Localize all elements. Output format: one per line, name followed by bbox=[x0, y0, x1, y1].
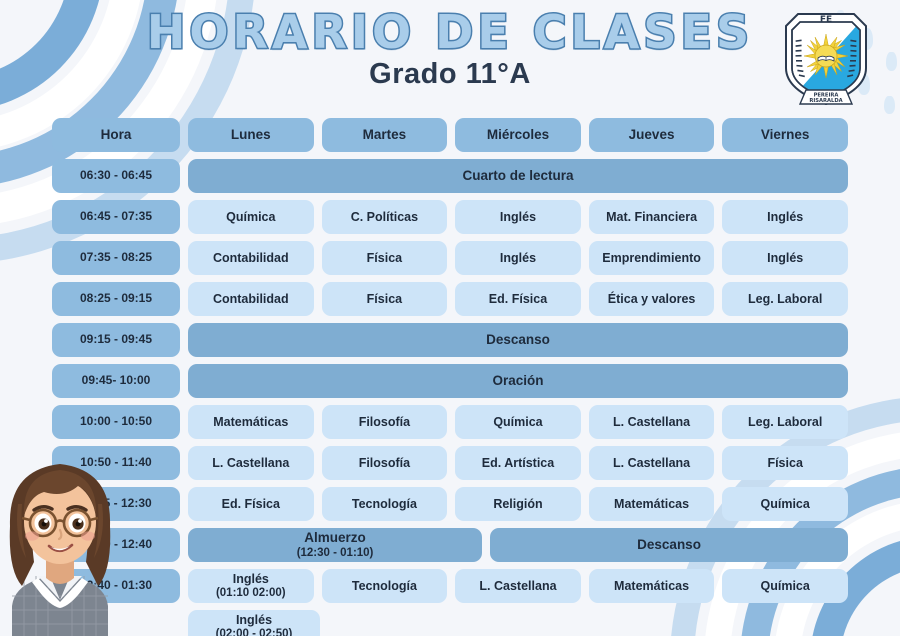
subject-cell: Química bbox=[455, 405, 581, 439]
empty-cell bbox=[724, 610, 848, 636]
time-slot: 10:00 - 10:50 bbox=[52, 405, 180, 439]
schedule-table: Hora Lunes Martes Miércoles Jueves Viern… bbox=[0, 118, 900, 636]
subject-label: Inglés bbox=[233, 572, 269, 586]
subject-cell: Ed. Artística bbox=[455, 446, 581, 480]
empty-cell bbox=[592, 610, 716, 636]
lunch-cell: Almuerzo (12:30 - 01:10) bbox=[188, 528, 482, 562]
subject-label: Inglés bbox=[236, 613, 272, 627]
subject-cell: Física bbox=[322, 282, 448, 316]
table-row: 06:30 - 06:45 Cuarto de lectura bbox=[52, 159, 848, 193]
table-row: 12:40 - 01:30 Inglés (01:10 02:00) Tecno… bbox=[52, 569, 848, 603]
lunch-time-range: (12:30 - 01:10) bbox=[297, 547, 374, 560]
subject-cell: Tecnología bbox=[322, 487, 448, 521]
column-header-hora: Hora bbox=[52, 118, 180, 152]
time-slot: 12:30 - 12:40 bbox=[52, 528, 180, 562]
time-slot: 10:50 - 11:40 bbox=[52, 446, 180, 480]
table-row: 09:15 - 09:45 Descanso bbox=[52, 323, 848, 357]
table-row: 10:50 - 11:40 L. Castellana Filosofía Ed… bbox=[52, 446, 848, 480]
subject-cell: Inglés (01:10 02:00) bbox=[188, 569, 314, 603]
subject-cell: Tecnología bbox=[322, 569, 448, 603]
crest-motto: FE bbox=[820, 15, 832, 25]
column-header-viernes: Viernes bbox=[722, 118, 848, 152]
special-activity-cuarto-de-lectura: Cuarto de lectura bbox=[188, 159, 848, 193]
subject-cell: Química bbox=[722, 569, 848, 603]
table-row: Inglés (02:00 - 02:50) bbox=[52, 610, 848, 636]
subject-cell: Contabilidad bbox=[188, 282, 314, 316]
subject-cell: Emprendimiento bbox=[589, 241, 715, 275]
empty-cell bbox=[460, 610, 584, 636]
table-row: 08:25 - 09:15 Contabilidad Física Ed. Fí… bbox=[52, 282, 848, 316]
time-slot: 09:15 - 09:45 bbox=[52, 323, 180, 357]
subject-cell: Inglés bbox=[722, 200, 848, 234]
table-row: 06:45 - 07:35 Química C. Políticas Inglé… bbox=[52, 200, 848, 234]
subject-cell: L. Castellana bbox=[589, 446, 715, 480]
subject-cell: L. Castellana bbox=[589, 405, 715, 439]
subject-time-range: (01:10 02:00) bbox=[216, 587, 286, 600]
subject-cell: Inglés bbox=[455, 200, 581, 234]
subject-cell: Leg. Laboral bbox=[722, 405, 848, 439]
time-slot: 08:25 - 09:15 bbox=[52, 282, 180, 316]
table-row: 09:45- 10:00 Oración bbox=[52, 364, 848, 398]
subject-cell: L. Castellana bbox=[188, 446, 314, 480]
special-activity-descanso: Descanso bbox=[188, 323, 848, 357]
special-activity-descanso: Descanso bbox=[490, 528, 848, 562]
subject-cell: Filosofía bbox=[322, 405, 448, 439]
time-slot-empty bbox=[52, 610, 180, 636]
column-header-lunes: Lunes bbox=[188, 118, 314, 152]
column-header-martes: Martes bbox=[322, 118, 448, 152]
time-slot: 07:35 - 08:25 bbox=[52, 241, 180, 275]
special-activity-oracion: Oración bbox=[188, 364, 848, 398]
table-row: 11:45 - 12:30 Ed. Física Tecnología Reli… bbox=[52, 487, 848, 521]
table-header-row: Hora Lunes Martes Miércoles Jueves Viern… bbox=[52, 118, 848, 152]
school-crest-logo: FE PEREIRA RISARALDA bbox=[778, 4, 874, 108]
subject-cell: Leg. Laboral bbox=[722, 282, 848, 316]
empty-cell bbox=[328, 610, 452, 636]
column-header-miercoles: Miércoles bbox=[455, 118, 581, 152]
subject-cell: Religión bbox=[455, 487, 581, 521]
table-row: 12:30 - 12:40 Almuerzo (12:30 - 01:10) D… bbox=[52, 528, 848, 562]
time-slot: 09:45- 10:00 bbox=[52, 364, 180, 398]
table-row: 10:00 - 10:50 Matemáticas Filosofía Quím… bbox=[52, 405, 848, 439]
subject-cell: Ed. Física bbox=[188, 487, 314, 521]
subject-cell: Inglés bbox=[722, 241, 848, 275]
subject-cell: Física bbox=[322, 241, 448, 275]
subject-cell: Inglés (02:00 - 02:50) bbox=[188, 610, 320, 636]
subject-cell: Filosofía bbox=[322, 446, 448, 480]
subject-cell: Química bbox=[722, 487, 848, 521]
page-header: HORARIO DE CLASES Grado 11°A bbox=[0, 0, 900, 118]
time-slot: 11:45 - 12:30 bbox=[52, 487, 180, 521]
page-title: HORARIO DE CLASES bbox=[0, 8, 900, 56]
crest-banner-line2: RISARALDA bbox=[809, 98, 842, 104]
subject-cell: Química bbox=[188, 200, 314, 234]
subject-cell: Ed. Física bbox=[455, 282, 581, 316]
subject-cell: Contabilidad bbox=[188, 241, 314, 275]
column-header-jueves: Jueves bbox=[589, 118, 715, 152]
time-slot: 06:45 - 07:35 bbox=[52, 200, 180, 234]
time-slot: 06:30 - 06:45 bbox=[52, 159, 180, 193]
subject-cell: Ética y valores bbox=[589, 282, 715, 316]
time-slot: 12:40 - 01:30 bbox=[52, 569, 180, 603]
subject-cell: Inglés bbox=[455, 241, 581, 275]
lunch-label: Almuerzo bbox=[304, 530, 366, 546]
subject-cell: Física bbox=[722, 446, 848, 480]
subject-cell: C. Políticas bbox=[322, 200, 448, 234]
subject-cell: L. Castellana bbox=[455, 569, 581, 603]
subject-cell: Matemáticas bbox=[188, 405, 314, 439]
table-row: 07:35 - 08:25 Contabilidad Física Inglés… bbox=[52, 241, 848, 275]
subject-cell: Matemáticas bbox=[589, 487, 715, 521]
subject-cell: Mat. Financiera bbox=[589, 200, 715, 234]
subject-time-range: (02:00 - 02:50) bbox=[216, 628, 293, 636]
subject-cell: Matemáticas bbox=[589, 569, 715, 603]
page-subtitle: Grado 11°A bbox=[0, 58, 900, 91]
